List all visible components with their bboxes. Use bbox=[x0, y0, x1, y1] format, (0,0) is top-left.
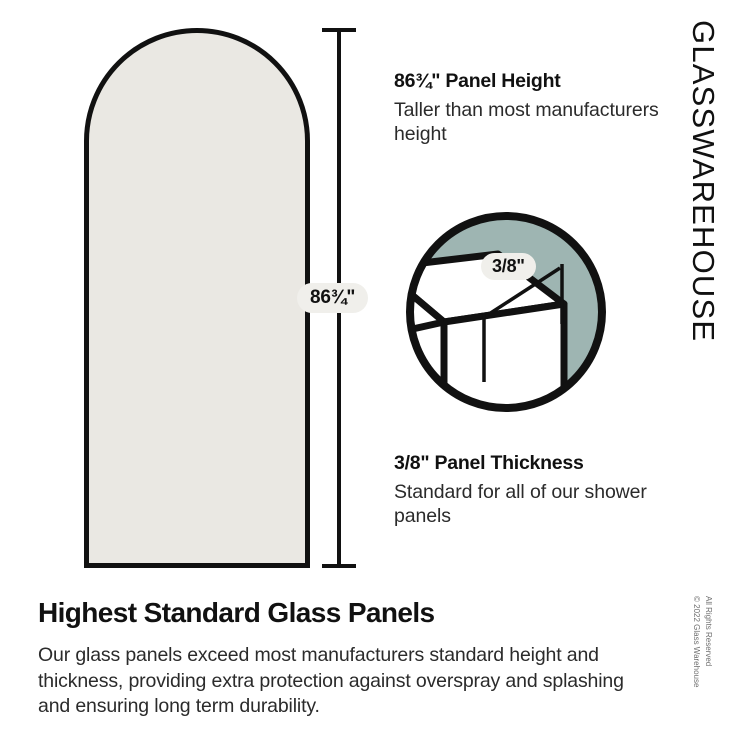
panel-height-badge: 86¾" bbox=[297, 283, 368, 313]
feature-panel-thickness-heading: 3/8" Panel Thickness bbox=[394, 452, 664, 476]
arched-panel-illustration bbox=[84, 28, 310, 568]
feature-panel-height-description: Taller than most manufacturers height bbox=[394, 98, 664, 147]
thickness-badge-label: 3/8" bbox=[492, 256, 525, 277]
panel-height-badge-label: 86¾" bbox=[310, 287, 355, 309]
footer-heading: Highest Standard Glass Panels bbox=[38, 598, 656, 629]
footer-body: Our glass panels exceed most manufacture… bbox=[38, 643, 656, 720]
thickness-detail-circle: 3/8" bbox=[400, 206, 612, 418]
brand-wordmark-text: GLASSWAREHOUSE bbox=[688, 20, 719, 342]
footer-block: Highest Standard Glass Panels Our glass … bbox=[38, 598, 656, 720]
thickness-detail-svg bbox=[400, 206, 612, 418]
feature-panel-thickness-description: Standard for all of our shower panels bbox=[394, 480, 664, 529]
thickness-badge: 3/8" bbox=[481, 253, 536, 280]
feature-panel-height: 86¾" Panel Height Taller than most manuf… bbox=[394, 70, 664, 147]
copyright-line-2: All Rights Reserved bbox=[704, 596, 712, 666]
feature-panel-height-heading: 86¾" Panel Height bbox=[394, 70, 664, 94]
arched-panel-shape bbox=[84, 28, 310, 568]
copyright-line-1: © 2022 Glass Warehouse bbox=[692, 596, 700, 687]
dimension-cap-top bbox=[322, 28, 356, 32]
infographic-canvas: 86¾" 86¾" Panel Height Taller than most … bbox=[0, 0, 755, 755]
copyright-notice: © 2022 Glass Warehouse All Rights Reserv… bbox=[690, 596, 726, 726]
brand-wordmark: GLASSWAREHOUSE bbox=[668, 20, 708, 440]
dimension-cap-bottom bbox=[322, 564, 356, 568]
feature-panel-thickness: 3/8" Panel Thickness Standard for all of… bbox=[394, 452, 664, 529]
